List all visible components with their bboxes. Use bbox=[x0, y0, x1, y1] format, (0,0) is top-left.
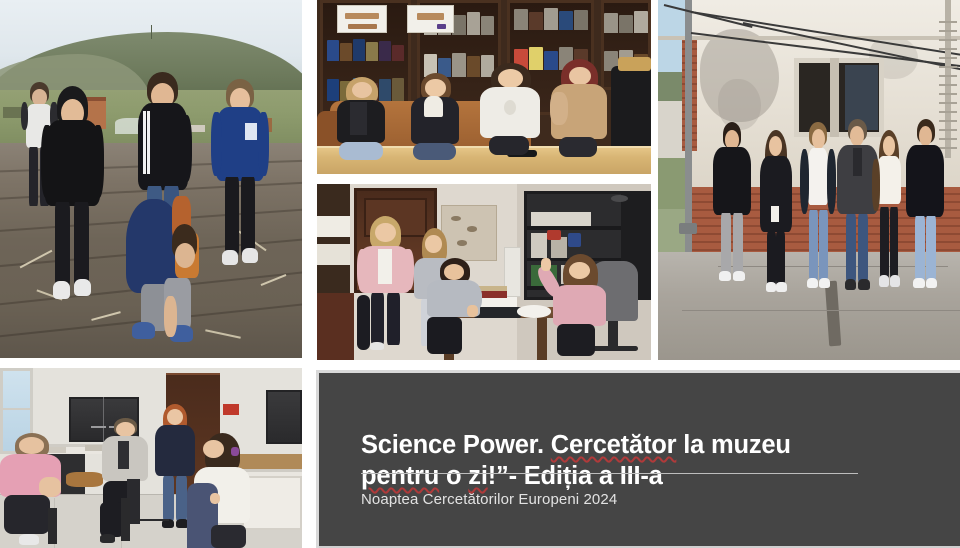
photo-field-survey bbox=[0, 0, 302, 358]
title-segment-plain-1: Science Power. bbox=[361, 431, 551, 459]
title-segment-plain-4: !”- Ediția a III-a bbox=[488, 462, 663, 490]
title-divider bbox=[361, 473, 858, 474]
poster-title: Science Power. Cercetător la muzeupentru… bbox=[361, 399, 920, 492]
photo-collage-poster: Science Power. Cercetător la muzeupentru… bbox=[0, 0, 960, 548]
photo-lab-meeting bbox=[0, 368, 302, 548]
photo-group-outside-building bbox=[658, 0, 960, 360]
title-segment-plain-2: la muzeu bbox=[676, 431, 790, 459]
title-segment-spellcheck-cercetator: Cercetător bbox=[551, 431, 677, 459]
title-segment-spellcheck-pentru: pentru bbox=[361, 462, 439, 490]
poster-subtitle: Noaptea Cercetătorilor Europeni 2024 bbox=[361, 491, 617, 508]
photo-office-workshop bbox=[317, 184, 651, 360]
title-segment-plain-3: o bbox=[439, 462, 468, 490]
title-segment-spellcheck-zi: zi bbox=[468, 462, 487, 490]
photo-library-discussion bbox=[317, 0, 651, 174]
title-panel: Science Power. Cercetător la muzeupentru… bbox=[316, 370, 960, 548]
